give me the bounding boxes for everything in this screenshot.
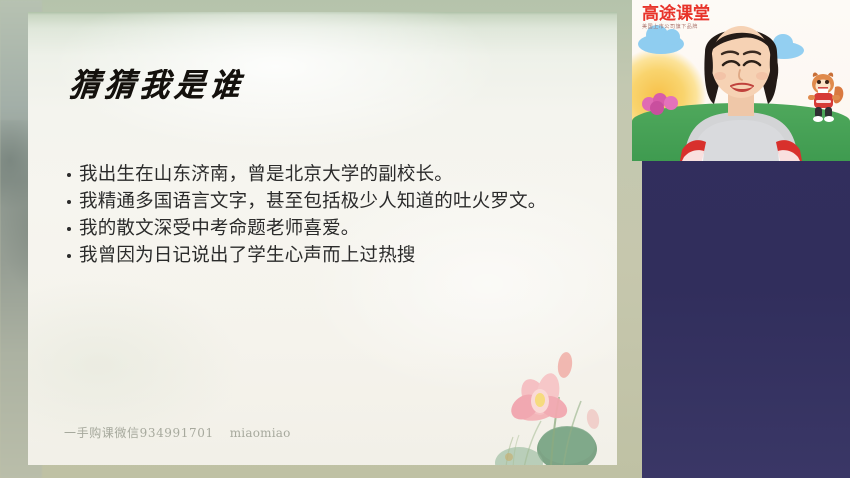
bullet-item: 我的散文深受中考命题老师喜爱。 <box>66 216 566 241</box>
watermark-chinese: 一手购课微信934991701 <box>64 426 214 440</box>
brand-logo-text: 高途课堂 <box>642 5 710 24</box>
bullet-list: 我出生在山东济南，曾是北京大学的副校长。 我精通多国语言文字，甚至包括极少人知道… <box>66 162 566 270</box>
bullet-item: 我出生在山东济南，曾是北京大学的副校长。 <box>66 162 566 187</box>
slide-title: 猜猜我是谁 <box>68 59 248 106</box>
brand-logo: 高途课堂 美国上市公司旗下品牌 <box>642 5 710 31</box>
watermark-latin: miaomiao <box>230 426 291 440</box>
brand-logo-subtitle: 美国上市公司旗下品牌 <box>642 24 710 31</box>
slide-card: 猜猜我是谁 我出生在山东济南，曾是北京大学的副校长。 我精通多国语言文字，甚至包… <box>28 12 617 465</box>
bullet-item: 我曾因为日记说出了学生心声而上过热搜 <box>66 243 566 268</box>
slide-region: 猜猜我是谁 我出生在山东济南，曾是北京大学的副校长。 我精通多国语言文字，甚至包… <box>0 0 642 478</box>
webcam-video-tile[interactable]: 高途课堂 美国上市公司旗下品牌 <box>632 0 850 161</box>
lotus-flower-icon <box>493 345 617 465</box>
bullet-item: 我精通多国语言文字，甚至包括极少人知道的吐火罗文。 <box>66 189 566 214</box>
presentation-screen: 猜猜我是谁 我出生在山东济南，曾是北京大学的副校长。 我精通多国语言文字，甚至包… <box>0 0 850 478</box>
right-panel: 高途课堂 美国上市公司旗下品牌 <box>642 0 850 478</box>
watermark: 一手购课微信934991701miaomiao <box>64 424 291 441</box>
